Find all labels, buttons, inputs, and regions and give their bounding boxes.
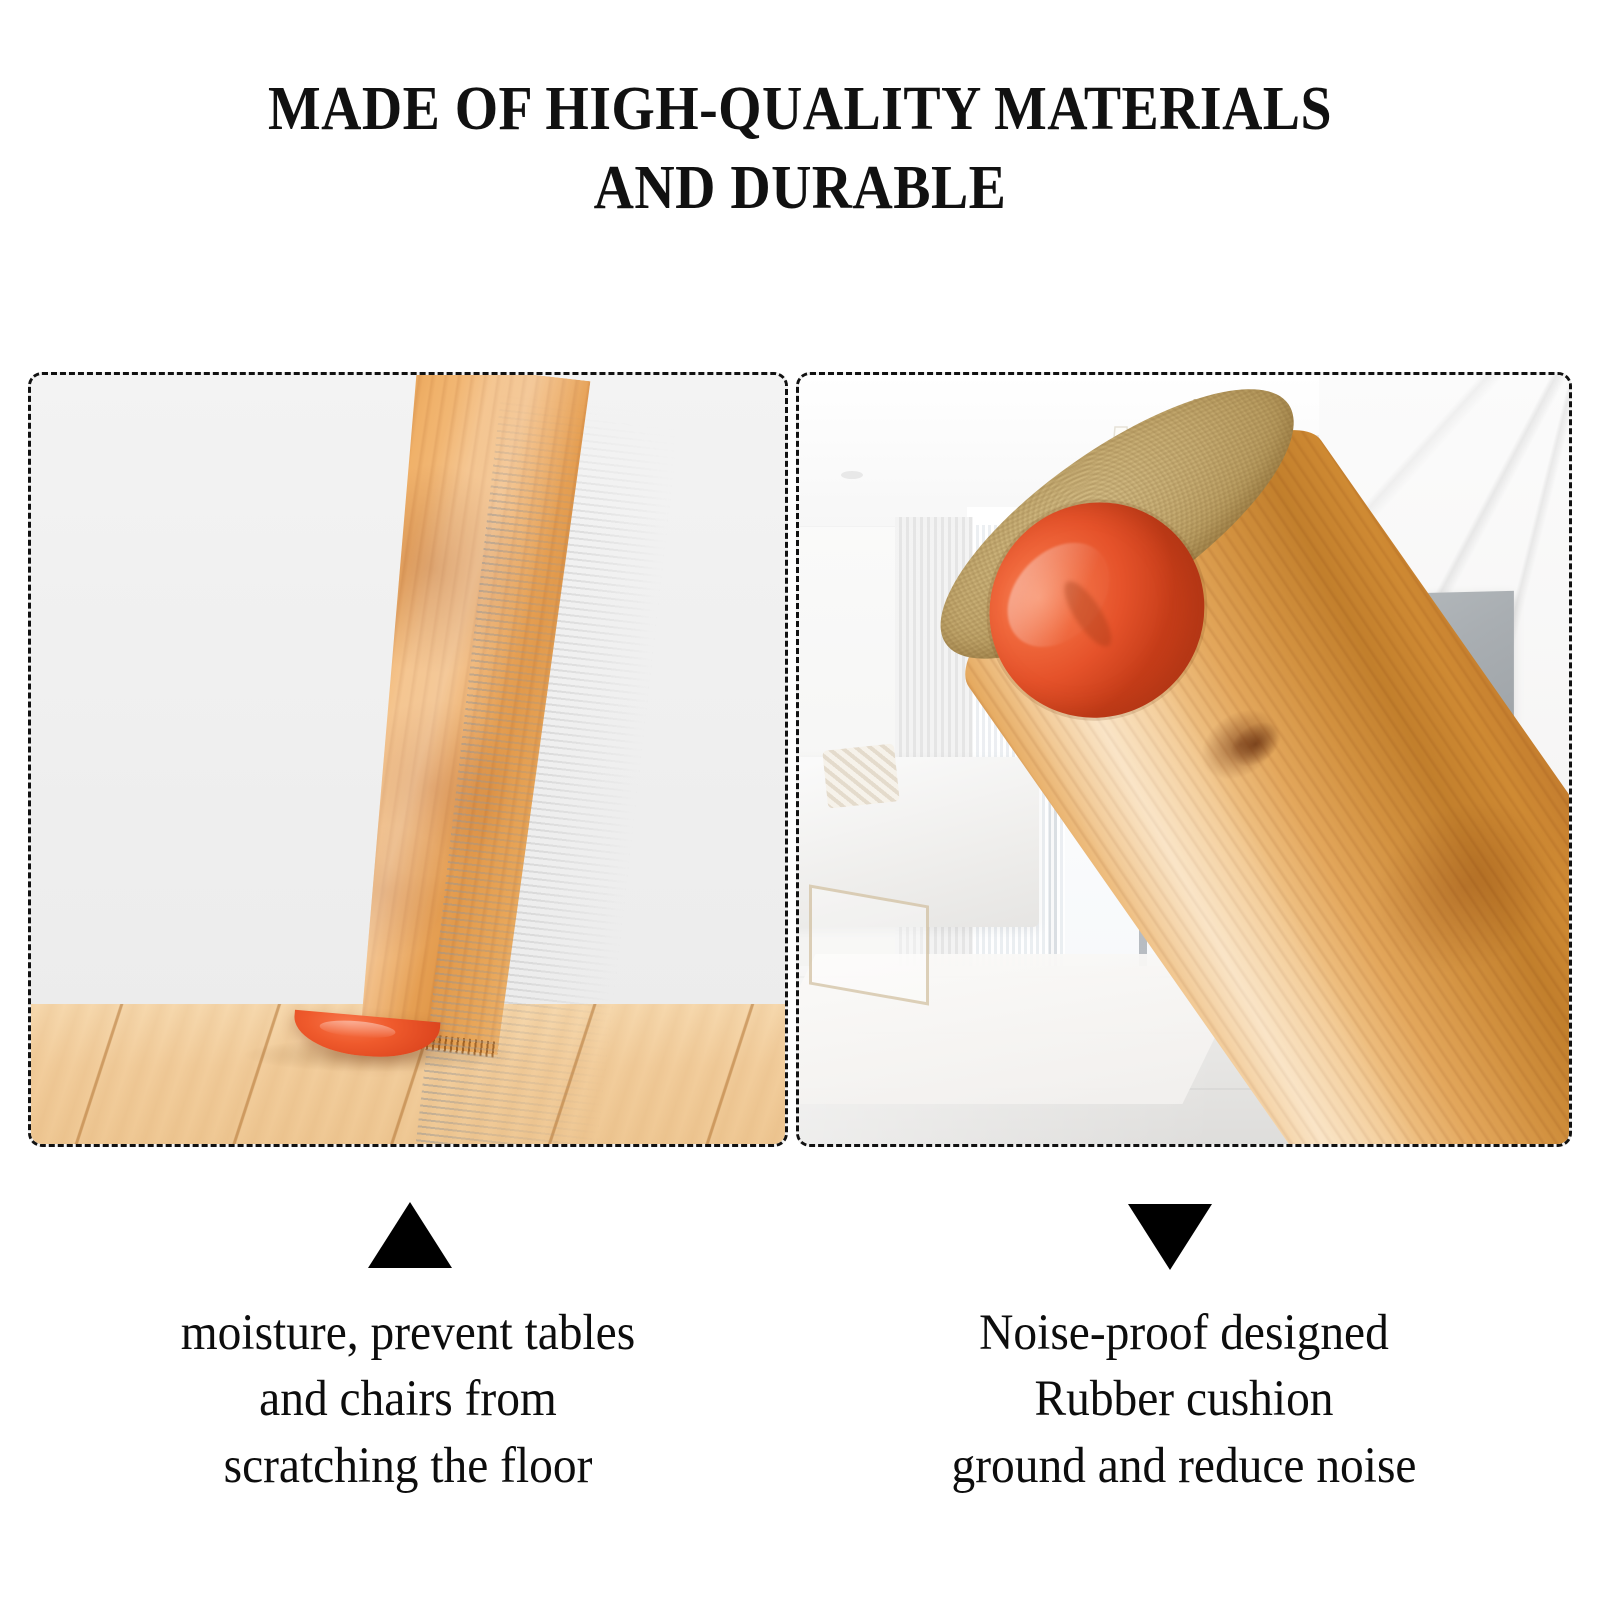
left-scene: [31, 375, 785, 1144]
panels-row: [0, 372, 1600, 1147]
side-table: [809, 884, 929, 1005]
downlight-icon: [841, 471, 863, 479]
caption-left: moisture, prevent tables and chairs from…: [55, 1300, 762, 1499]
caption-right: Noise-proof designed Rubber cushion grou…: [823, 1300, 1545, 1499]
image-panel-left[interactable]: [28, 372, 788, 1147]
triangle-up-icon: [368, 1202, 452, 1268]
right-scene: [799, 375, 1569, 1144]
triangle-down-icon: [1128, 1204, 1212, 1270]
page-title: MADE OF HIGH-QUALITY MATERIALS AND DURAB…: [80, 70, 1520, 229]
caption-row: moisture, prevent tables and chairs from…: [0, 1300, 1600, 1530]
image-panel-right[interactable]: [796, 372, 1572, 1147]
marker-row: [0, 1190, 1600, 1280]
throw-pillow: [822, 743, 900, 808]
infographic-page: MADE OF HIGH-QUALITY MATERIALS AND DURAB…: [0, 0, 1600, 1600]
pad-highlight: [319, 1018, 396, 1041]
